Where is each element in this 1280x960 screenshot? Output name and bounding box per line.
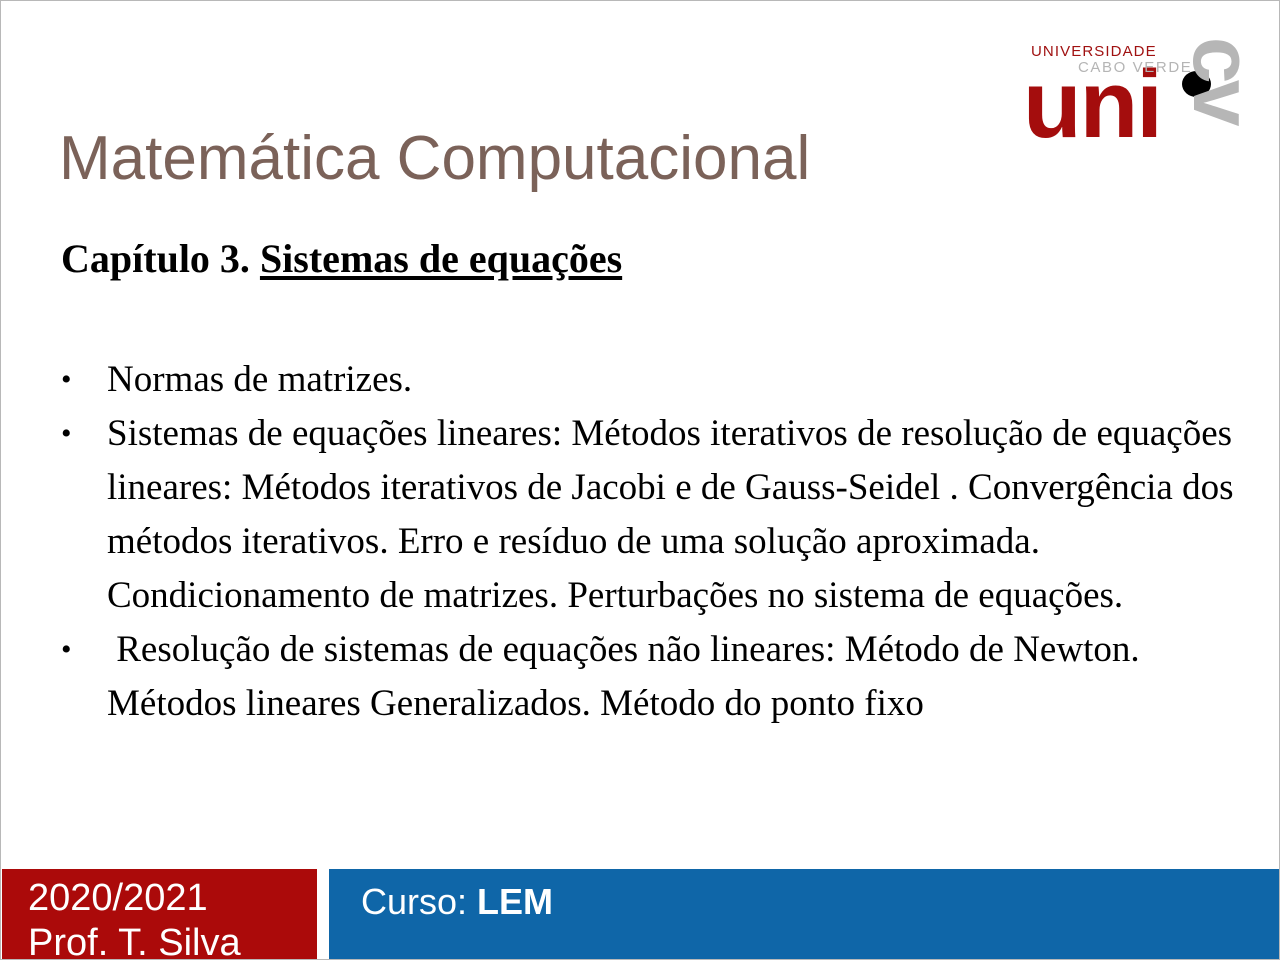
logo-line-cabo-verde: CABO VERDE (1078, 59, 1192, 76)
list-item: • Sistemas de equações lineares: Métodos… (61, 407, 1256, 623)
footer-course-label: Curso: (361, 881, 467, 922)
page-title: Matemática Computacional (59, 123, 810, 194)
chapter-underlined-title: Sistemas de equações (260, 236, 622, 281)
chapter-prefix: Capítulo 3. (61, 236, 260, 281)
list-item-text: Normas de matrizes. (107, 353, 1256, 407)
footer-academic-year: 2020/2021 (28, 879, 208, 917)
bullet-marker-icon: • (61, 353, 107, 407)
chapter-heading: Capítulo 3. Sistemas de equações (61, 235, 622, 282)
list-item-text: Sistemas de equações lineares: Métodos i… (107, 407, 1256, 623)
footer-blue-block: Curso: LEM (329, 869, 1280, 960)
slide-canvas: uni cv UNIVERSIDADE CABO VERDE Matemátic… (0, 0, 1280, 960)
footer-course-value: LEM (477, 881, 553, 922)
footer-course: Curso: LEM (361, 881, 553, 923)
list-item: • Resolução de sistemas de equações não … (61, 623, 1256, 731)
bullet-list: • Normas de matrizes. • Sistemas de equa… (61, 353, 1256, 731)
list-item: • Normas de matrizes. (61, 353, 1256, 407)
list-item-text: Resolução de sistemas de equações não li… (107, 623, 1256, 731)
logo-line-universidade: UNIVERSIDADE (1031, 43, 1157, 60)
footer-red-block: 2020/2021 Prof. T. Silva (2, 869, 317, 960)
bullet-marker-icon: • (61, 623, 107, 677)
bullet-marker-icon: • (61, 407, 107, 461)
unicv-logo: uni cv UNIVERSIDADE CABO VERDE (1023, 29, 1255, 139)
logo-wordmark-cv: cv (1171, 37, 1275, 141)
footer-professor: Prof. T. Silva (28, 924, 241, 960)
